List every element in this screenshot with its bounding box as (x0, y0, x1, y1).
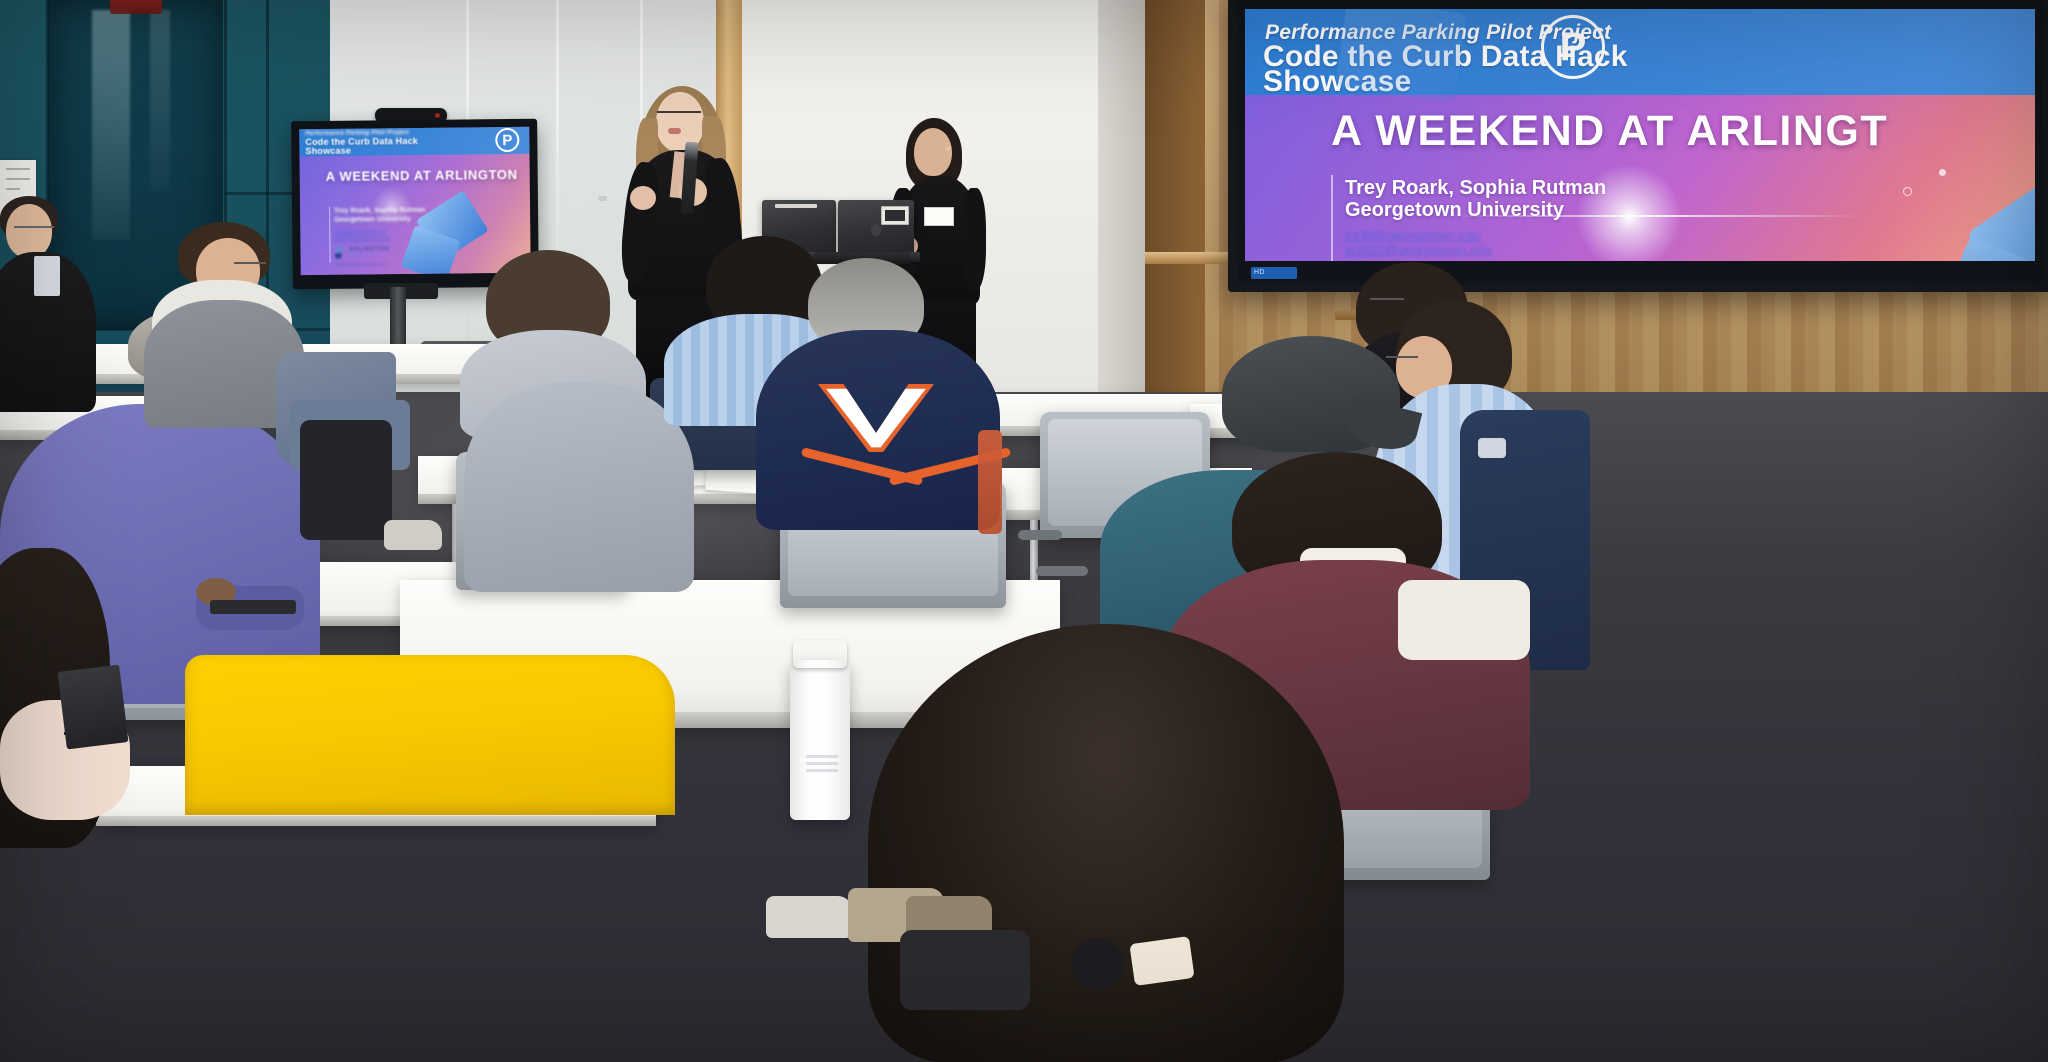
door-reflection (92, 10, 130, 240)
sleeve-stripe (978, 430, 1002, 534)
lens-flare (370, 184, 414, 228)
bag-on-floor (1129, 936, 1194, 986)
parking-badge-icon: P (1541, 15, 1605, 79)
glass-handle-dots (598, 196, 607, 201)
glasses-icon (14, 226, 54, 228)
glasses-icon (657, 111, 701, 113)
bag (300, 420, 392, 540)
lens-flare-streak (1445, 215, 1865, 217)
slide-headline: A WEEKEND AT ARLINGTON (326, 167, 518, 184)
slide-surface: Performance Parking Pilot Project Code t… (1245, 9, 2035, 261)
slide-vertical-rule (329, 207, 331, 263)
laptop-label-strip (775, 204, 816, 208)
rolling-display-left[interactable]: Performance Parking Pilot Project Code t… (291, 119, 539, 290)
wood-dark-reveal (1145, 0, 1205, 415)
parking-badge-icon: P (495, 128, 519, 152)
laptop-right[interactable] (838, 200, 914, 256)
uva-v-icon (818, 384, 934, 452)
shoe (766, 896, 852, 938)
arlington-wordmark: ARLINGTON VIRGINIA (349, 246, 390, 257)
white-water-bottle[interactable] (790, 660, 850, 820)
slide-vertical-rule (1331, 175, 1333, 261)
webcam-led (435, 113, 440, 118)
glasses-icon (1386, 356, 1418, 358)
laptop-photo-sticker (881, 206, 910, 225)
chair-base (900, 930, 1030, 1010)
phone[interactable] (210, 600, 296, 614)
laptop-foreground[interactable] (57, 665, 128, 750)
head (914, 128, 952, 176)
slide-headline: A WEEKEND AT ARLINGT (1331, 107, 1888, 156)
door-reflection (150, 10, 170, 190)
decorative-tile (1335, 9, 1466, 103)
arm-right (962, 188, 986, 290)
laptop-logo-icon (871, 224, 881, 236)
arlington-sub: VIRGINIA (350, 252, 390, 257)
chair-leg (1018, 530, 1062, 540)
decorative-ring (1903, 187, 1912, 196)
arlington-mark-icon (333, 246, 345, 258)
tee-shoulder (1398, 580, 1530, 660)
georgetown-seal: GEORGETOWN UNIVERSITY (335, 262, 399, 267)
chair-caster (1072, 938, 1124, 990)
decorative-dot (1939, 169, 1946, 176)
glasses-icon (1370, 298, 1404, 300)
display-brand-chip: HD (1251, 267, 1297, 279)
head (6, 204, 52, 258)
slide-event-title-line2: Showcase (305, 147, 351, 157)
bottle-bamboo-cap[interactable] (793, 640, 847, 668)
wall-mounted-display-right[interactable]: Performance Parking Pilot Project Code t… (1228, 0, 2048, 292)
arlington-logo: ARLINGTON VIRGINIA (334, 246, 390, 258)
slide-surface: Performance Parking Pilot Project Code t… (299, 127, 531, 275)
earring (946, 146, 951, 151)
exit-sign (110, 0, 162, 14)
display-stand-post (390, 287, 406, 349)
torso-grey-hoodie (464, 382, 694, 592)
slide-email-2[interactable]: sr1622@georgetown.edu (1345, 241, 1491, 259)
name-badge (924, 207, 954, 226)
conference-room-photo: Performance Parking Pilot Project Code t… (0, 0, 2048, 1062)
chair-leg (1036, 566, 1088, 576)
slide-email-2[interactable]: sr1622@georgetown.edu (334, 235, 390, 242)
display-bezel-bottom: HD (1237, 261, 2043, 283)
hand-left (630, 186, 656, 210)
shoe (384, 520, 442, 550)
badge-lanyard-card (1478, 438, 1506, 458)
slide-affiliation: Georgetown University (1345, 197, 1564, 223)
bottle-logo (806, 755, 838, 773)
mouth (668, 128, 681, 134)
collar (34, 256, 60, 296)
glasses-icon (234, 262, 266, 264)
lens-flare (1569, 157, 1689, 261)
wall-corner-shadow (1098, 0, 1150, 400)
yellow-coat-on-chair[interactable] (185, 655, 675, 815)
